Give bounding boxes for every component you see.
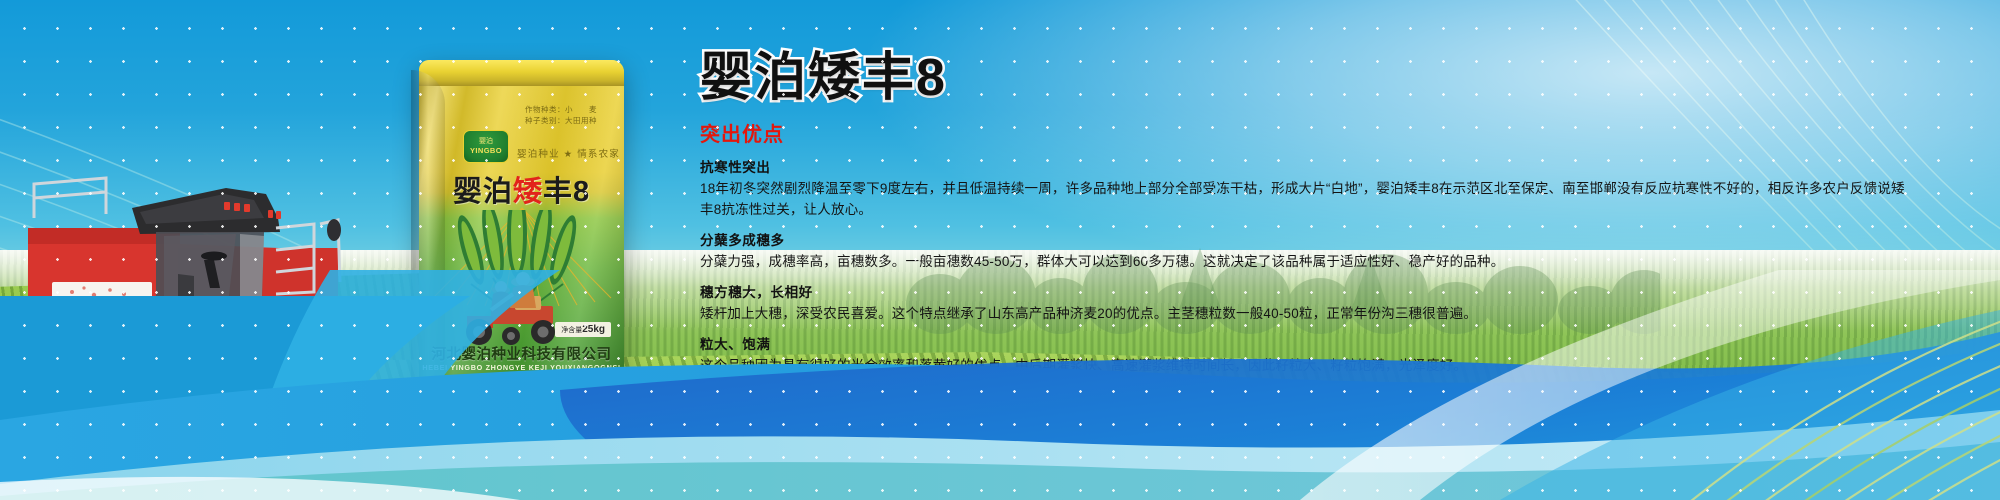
- yingbo-logo: 婴泊 YINGBO: [463, 130, 509, 163]
- net-weight-badge: 净含量25kg: [555, 322, 611, 337]
- bag-title-part1: 婴泊: [453, 176, 513, 208]
- advantage-body: 矮杆加上大穗，深受农民喜爱。这个特点继承了山东高产品种济麦20的优点。主茎穗粒数…: [700, 303, 1905, 324]
- advantage-heading: 抗寒性突出: [700, 156, 1930, 176]
- advantage-heading: 分蘖多成穗多: [700, 229, 1930, 249]
- advantage-body: 18年初冬突然剧烈降温至零下9度左右，并且低温持续一周，许多品种地上部分全部受冻…: [700, 178, 1905, 220]
- advantage-heading: 穗方穗大，长相好: [700, 281, 1930, 301]
- seed-bag-product: 作物种类：小 麦 种子类别：大田用种 婴泊 YINGBO 婴泊种业 ★ 情系农家…: [419, 60, 624, 390]
- bag-slogan: 婴泊种业 ★ 情系农家: [517, 146, 620, 160]
- bag-top-seam: [419, 60, 624, 86]
- advantage-heading: 粒大、饱满: [700, 333, 1930, 353]
- advantage-body: 分蘖力强，成穗率高，亩穗数多。一般亩穗数45-50万，群体大可以达到60多万穗。…: [700, 251, 1905, 272]
- logo-latin-text: YINGBO: [470, 146, 502, 155]
- logo-chinese-text: 婴泊: [479, 138, 493, 146]
- advantage-item: 抗寒性突出 18年初冬突然剧烈降温至零下9度左右，并且低温持续一周，许多品种地上…: [700, 156, 1930, 220]
- net-weight-value: 25kg: [582, 324, 605, 335]
- combine-harvester-icon: [28, 132, 448, 362]
- bag-spec-lines: 作物种类：小 麦 种子类别：大田用种: [525, 104, 597, 126]
- section-heading-advantages: 突出优点: [700, 118, 1930, 147]
- advantage-item: 穗方穗大，长相好 矮杆加上大穗，深受农民喜爱。这个特点继承了山东高产品种济麦20…: [700, 281, 1930, 324]
- copy-block: 婴泊矮丰8 突出优点 抗寒性突出 18年初冬突然剧烈降温至零下9度左右，并且低温…: [700, 46, 1930, 376]
- bag-title-part3: 丰8: [543, 176, 590, 208]
- advantage-item: 粒大、饱满 这个品种因为具有很好的光合效率和落黄好的优点，中后期灌浆快、高速灌浆…: [700, 333, 1930, 376]
- bag-company-name-cn: 河北婴泊种业科技有限公司: [419, 343, 624, 364]
- bag-title-part2: 矮: [513, 176, 543, 208]
- promo-banner: 作物种类：小 麦 种子类别：大田用种 婴泊 YINGBO 婴泊种业 ★ 情系农家…: [0, 0, 2000, 500]
- bag-seed-class: 种子类别：大田用种: [525, 115, 597, 126]
- bag-crop-type: 作物种类：小 麦: [525, 104, 597, 115]
- net-weight-label: 净含量: [561, 327, 582, 334]
- bag-product-title: 婴泊矮丰8: [419, 168, 624, 210]
- bag-company-name-en: HEBEI YINGBO ZHONGYE KEJI YOUXIANGOGNSI: [419, 363, 624, 372]
- advantage-body: 这个品种因为具有很好的光合效率和落黄好的优点，中后期灌浆快、高速灌浆维持时间长，…: [700, 355, 1905, 376]
- advantage-item: 分蘖多成穗多 分蘖力强，成穗率高，亩穗数多。一般亩穗数45-50万，群体大可以达…: [700, 229, 1930, 272]
- page-title: 婴泊矮丰8: [700, 46, 1930, 110]
